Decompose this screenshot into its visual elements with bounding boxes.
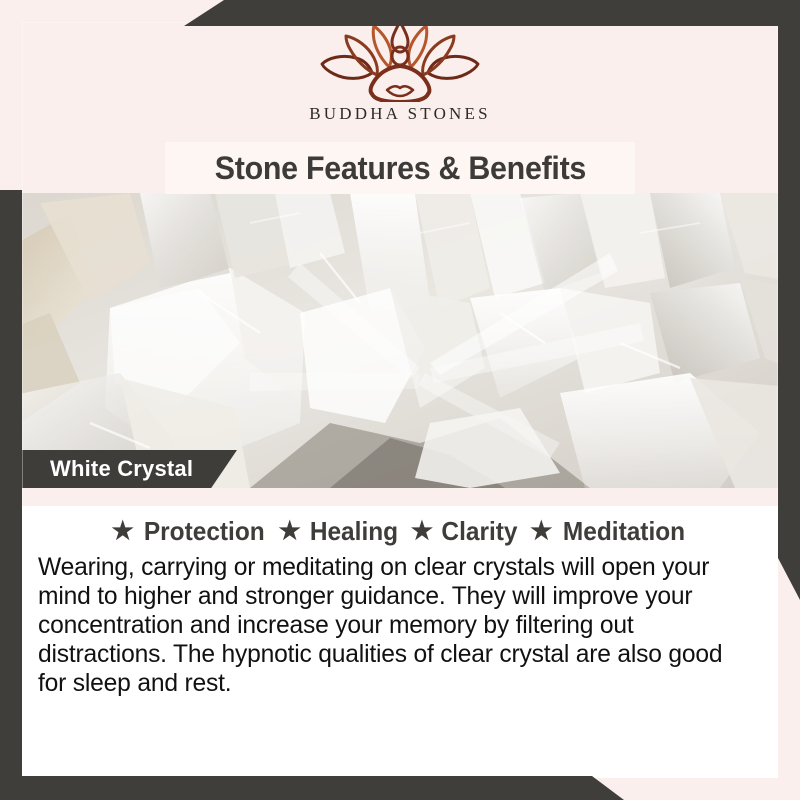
star-icon: ★ bbox=[278, 519, 300, 544]
feature-item-protection: ★ Protection bbox=[111, 516, 268, 547]
star-icon: ★ bbox=[111, 519, 133, 544]
divider-strip bbox=[22, 488, 778, 506]
brand-name: BUDDHA STONES bbox=[309, 104, 491, 124]
feature-label: Meditation bbox=[562, 516, 684, 547]
page-title: Stone Features & Benefits bbox=[214, 150, 585, 187]
stone-name-text: White Crystal bbox=[22, 456, 193, 482]
hero-image bbox=[0, 193, 800, 488]
feature-label: Protection bbox=[144, 516, 265, 547]
product-info-card: BUDDHA STONES Stone Features & Benefits bbox=[0, 0, 800, 800]
feature-item-meditation: ★ Meditation bbox=[520, 516, 688, 547]
feature-item-healing: ★ Healing bbox=[268, 516, 400, 547]
lotus-meditation-icon bbox=[312, 18, 488, 102]
title-banner: Stone Features & Benefits bbox=[165, 142, 635, 194]
star-icon: ★ bbox=[411, 519, 433, 544]
feature-label: Clarity bbox=[442, 516, 518, 547]
star-icon: ★ bbox=[530, 519, 552, 544]
feature-item-clarity: ★ Clarity bbox=[401, 516, 520, 547]
content-panel: ★ Protection ★ Healing ★ Clarity ★ Medit… bbox=[22, 506, 778, 778]
left-frame-accent bbox=[0, 190, 22, 778]
right-frame-accent bbox=[778, 0, 800, 600]
bottom-frame-accent bbox=[0, 776, 800, 800]
description-paragraph: Wearing, carrying or meditating on clear… bbox=[38, 553, 751, 698]
stone-name-label: White Crystal bbox=[22, 450, 237, 488]
feature-list: ★ Protection ★ Healing ★ Clarity ★ Medit… bbox=[36, 516, 764, 547]
feature-label: Healing bbox=[310, 516, 398, 547]
